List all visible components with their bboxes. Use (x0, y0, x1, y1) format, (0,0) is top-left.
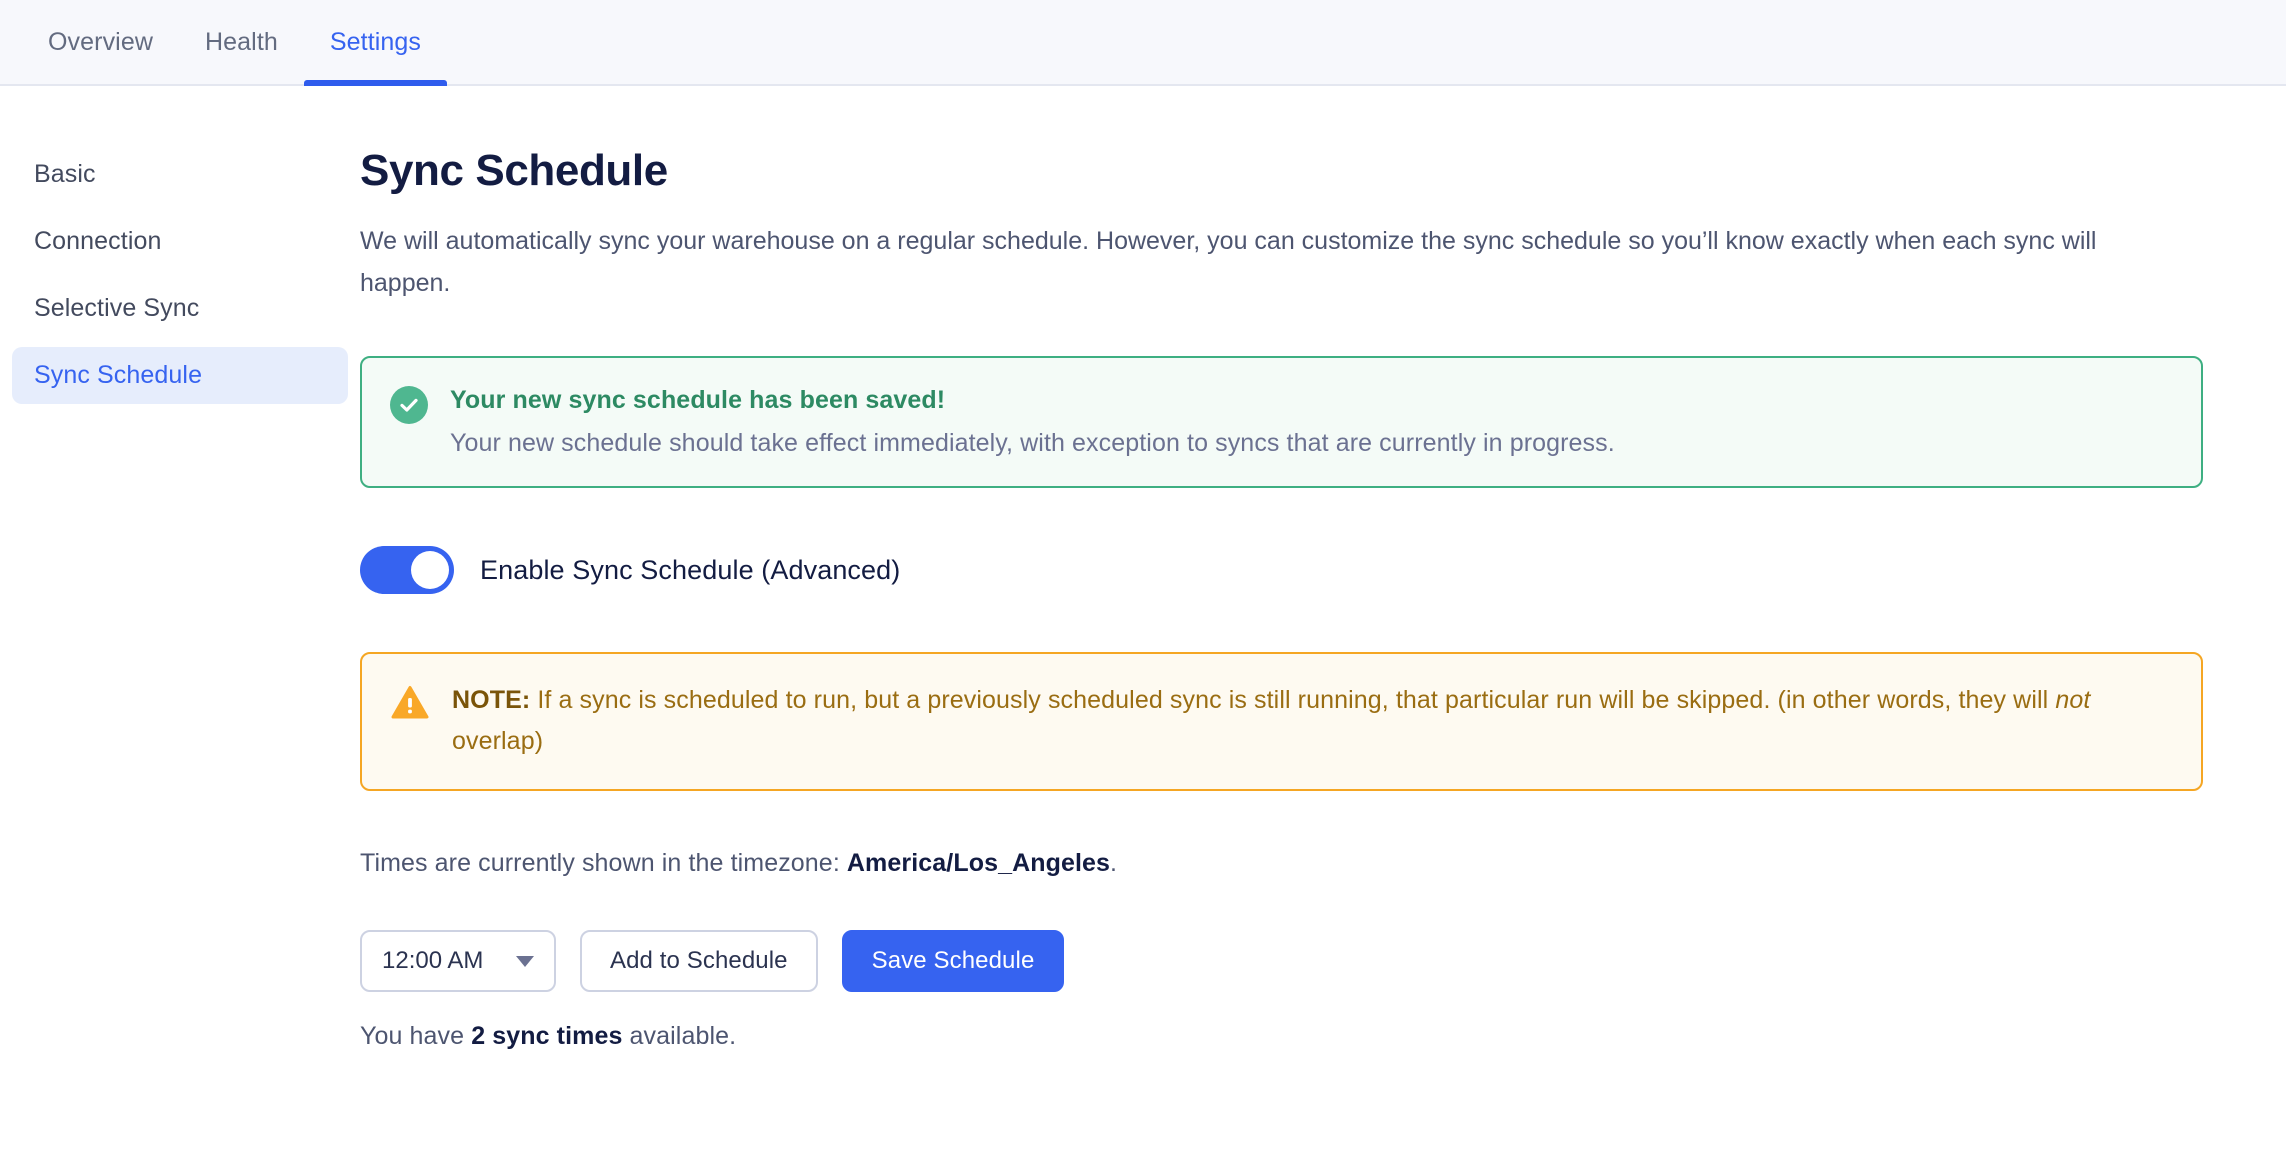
settings-sidebar: Basic Connection Selective Sync Sync Sch… (0, 146, 360, 414)
main-content: Sync Schedule We will automatically sync… (360, 146, 2260, 1051)
top-tab-bar: Overview Health Settings (0, 0, 2286, 86)
sidebar-item-basic[interactable]: Basic (12, 146, 348, 203)
timezone-value: America/Los_Angeles (847, 849, 1110, 877)
add-to-schedule-button[interactable]: Add to Schedule (580, 930, 818, 992)
sidebar-item-selective-sync-label: Selective Sync (34, 294, 199, 322)
timezone-line: Times are currently shown in the timezon… (360, 849, 2220, 878)
avail-prefix: You have (360, 1022, 471, 1050)
enable-sync-schedule-label: Enable Sync Schedule (Advanced) (480, 555, 900, 586)
success-banner-subtitle: Your new schedule should take effect imm… (450, 429, 1615, 458)
sidebar-item-sync-schedule[interactable]: Sync Schedule (12, 347, 348, 404)
timezone-suffix: . (1110, 849, 1117, 877)
sync-time-select[interactable]: 12:00 AM (360, 930, 556, 992)
tab-health[interactable]: Health (179, 0, 304, 84)
warning-triangle-icon (390, 683, 430, 721)
tab-health-label: Health (205, 28, 278, 57)
success-banner: Your new sync schedule has been saved! Y… (360, 356, 2203, 488)
note-prefix: NOTE: (452, 686, 530, 714)
schedule-controls: 12:00 AM Add to Schedule Save Schedule (360, 930, 2220, 992)
save-schedule-button[interactable]: Save Schedule (842, 930, 1065, 992)
chevron-down-icon (516, 956, 534, 967)
note-banner: NOTE: If a sync is scheduled to run, but… (360, 652, 2203, 791)
tab-settings-label: Settings (330, 28, 421, 57)
page-description: We will automatically sync your warehous… (360, 220, 2180, 304)
success-banner-body: Your new sync schedule has been saved! Y… (450, 384, 1615, 458)
page-body: Basic Connection Selective Sync Sync Sch… (0, 86, 2286, 1051)
sidebar-item-sync-schedule-label: Sync Schedule (34, 361, 202, 389)
tab-overview-underline (22, 80, 179, 86)
success-banner-title: Your new sync schedule has been saved! (450, 386, 1615, 415)
sidebar-item-connection[interactable]: Connection (12, 213, 348, 270)
enable-sync-schedule-row: Enable Sync Schedule (Advanced) (360, 546, 2220, 594)
avail-suffix: available. (623, 1022, 737, 1050)
tab-settings[interactable]: Settings (304, 0, 447, 84)
note-text-before: If a sync is scheduled to run, but a pre… (530, 686, 2055, 714)
sidebar-item-selective-sync[interactable]: Selective Sync (12, 280, 348, 337)
tab-settings-underline (304, 80, 447, 86)
note-text-after: overlap) (452, 727, 543, 755)
save-schedule-label: Save Schedule (872, 947, 1035, 975)
sidebar-item-connection-label: Connection (34, 227, 161, 255)
tab-health-underline (179, 80, 304, 86)
tab-overview-label: Overview (48, 28, 153, 57)
sync-time-select-value: 12:00 AM (382, 947, 483, 975)
sync-times-available-line: You have 2 sync times available. (360, 1022, 2220, 1051)
note-italic-word: not (2055, 686, 2090, 714)
enable-sync-schedule-toggle[interactable] (360, 546, 454, 594)
avail-count: 2 sync times (471, 1022, 622, 1050)
timezone-prefix: Times are currently shown in the timezon… (360, 849, 847, 877)
sidebar-item-basic-label: Basic (34, 160, 96, 188)
note-banner-text: NOTE: If a sync is scheduled to run, but… (452, 680, 2173, 761)
page-title: Sync Schedule (360, 146, 2220, 196)
tab-overview[interactable]: Overview (22, 0, 179, 84)
check-circle-icon (390, 386, 428, 424)
add-to-schedule-label: Add to Schedule (610, 947, 788, 975)
toggle-knob (411, 551, 449, 589)
